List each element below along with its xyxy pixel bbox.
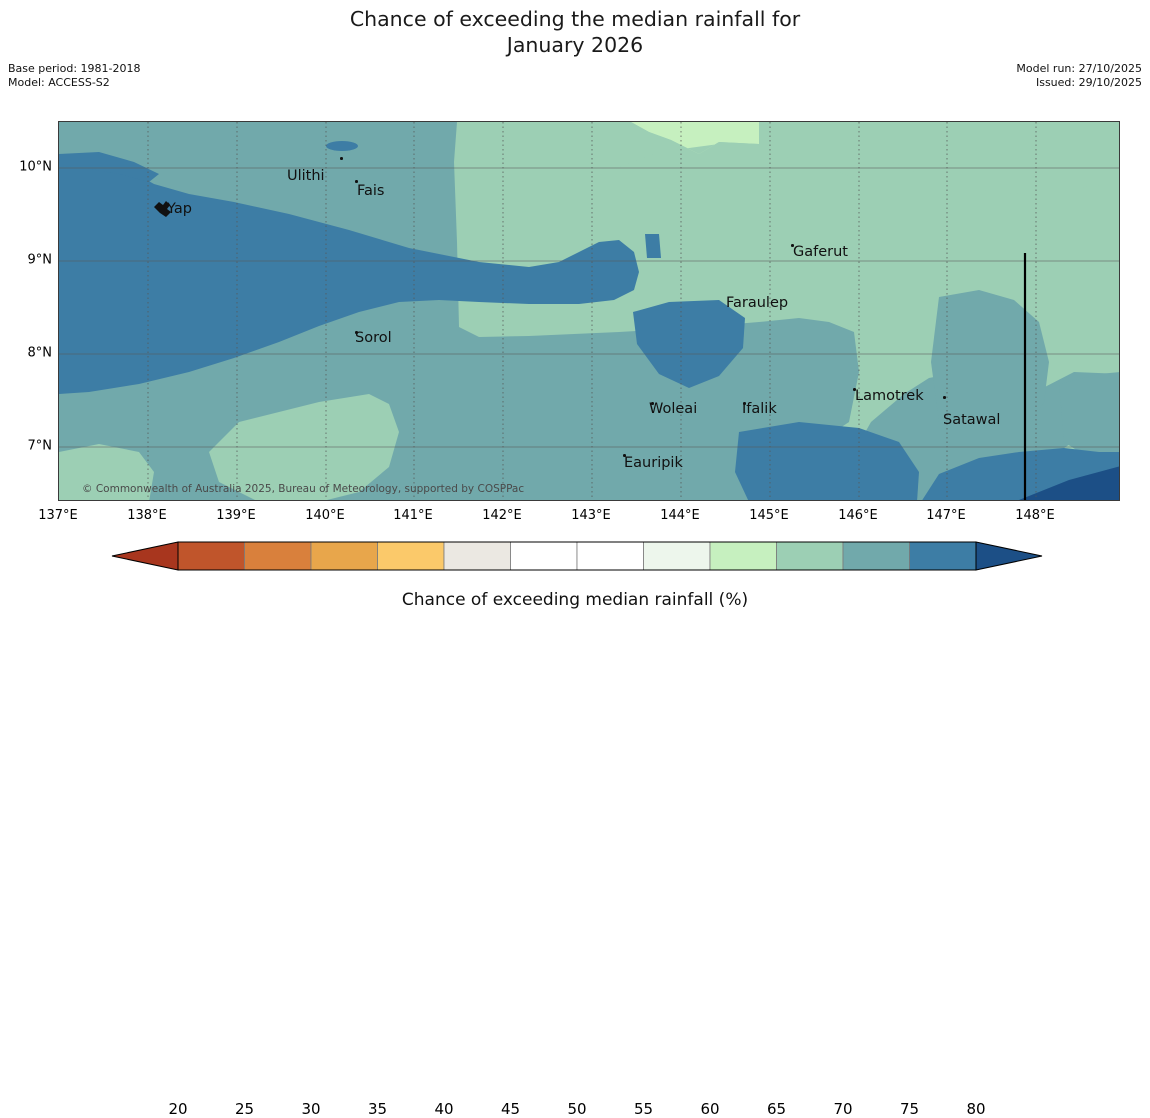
x-tick-140e: 140°E [305, 508, 345, 523]
x-tick-142e: 142°E [482, 508, 522, 523]
base-period-text: Base period: 1981-2018 [8, 62, 140, 76]
x-tick-139e: 139°E [216, 508, 256, 523]
colorbar-tick-50: 50 [567, 1100, 586, 1118]
place-dot-ulithi [340, 157, 343, 160]
rainfall-outlook-page: Chance of exceeding the median rainfall … [0, 0, 1150, 644]
issued-text: Issued: 29/10/2025 [1016, 76, 1142, 90]
x-tick-137e: 137°E [38, 508, 78, 523]
place-label-eauripik: Eauripik [624, 455, 683, 471]
place-label-gaferut: Gaferut [793, 244, 848, 260]
title-line-1: Chance of exceeding the median rainfall … [350, 7, 800, 31]
place-label-faraulep: Faraulep [726, 295, 788, 311]
x-tick-144e: 144°E [660, 508, 700, 523]
colorbar-bins [178, 542, 976, 570]
model-run-text: Model run: 27/10/2025 [1016, 62, 1142, 76]
title-line-2: January 2026 [507, 33, 643, 57]
y-tick-7n: 7°N [28, 439, 53, 454]
copyright-text: © Commonwealth of Australia 2025, Bureau… [82, 483, 524, 495]
metadata-right: Model run: 27/10/2025 Issued: 29/10/2025 [1016, 62, 1142, 89]
y-tick-8n: 8°N [28, 346, 53, 361]
x-tick-143e: 143°E [571, 508, 611, 523]
place-label-yap: Yap [167, 201, 192, 217]
place-label-satawal: Satawal [943, 412, 1000, 428]
colorbar-tick-65: 65 [767, 1100, 786, 1118]
colorbar-tick-80: 80 [966, 1100, 985, 1118]
place-dot-satawal [943, 396, 946, 399]
colorbar-tick-75: 75 [900, 1100, 919, 1118]
region-65-70-blob-north [326, 141, 358, 151]
colorbar[interactable]: 20 25 30 35 40 45 50 55 60 65 70 75 80 [0, 536, 1150, 576]
colorbar-tick-40: 40 [434, 1100, 453, 1118]
place-label-ifalik: Ifalik [742, 401, 777, 417]
x-tick-138e: 138°E [127, 508, 167, 523]
x-tick-145e: 145°E [749, 508, 789, 523]
region-65-70-blob-centre [645, 234, 661, 258]
colorbar-tick-25: 25 [235, 1100, 254, 1118]
colorbar-tick-30: 30 [301, 1100, 320, 1118]
model-text: Model: ACCESS-S2 [8, 76, 140, 90]
place-label-fais: Fais [357, 183, 384, 199]
colorbar-tick-60: 60 [700, 1100, 719, 1118]
place-label-sorol: Sorol [355, 330, 392, 346]
colorbar-tick-45: 45 [501, 1100, 520, 1118]
colorbar-tick-20: 20 [168, 1100, 187, 1118]
colorbar-tick-35: 35 [368, 1100, 387, 1118]
y-tick-10n: 10°N [19, 160, 52, 175]
place-label-lamotrek: Lamotrek [855, 388, 924, 404]
y-tick-9n: 9°N [28, 253, 53, 268]
x-tick-141e: 141°E [393, 508, 433, 523]
colorbar-tick-55: 55 [634, 1100, 653, 1118]
colorbar-extend-low [112, 542, 178, 570]
page-title: Chance of exceeding the median rainfall … [0, 6, 1150, 58]
x-tick-147e: 147°E [926, 508, 966, 523]
colorbar-axis-label: Chance of exceeding median rainfall (%) [0, 590, 1150, 610]
place-label-ulithi: Ulithi [287, 168, 325, 184]
place-label-woleai: Woleai [649, 401, 697, 417]
colorbar-swatches [0, 536, 1150, 576]
colorbar-tick-70: 70 [833, 1100, 852, 1118]
contour-map [59, 122, 1120, 501]
colorbar-extend-high [976, 542, 1042, 570]
map-panel[interactable]: Ulithi Fais Yap Sorol Gaferut Faraulep W… [58, 121, 1120, 501]
metadata-left: Base period: 1981-2018 Model: ACCESS-S2 [8, 62, 140, 89]
x-tick-148e: 148°E [1015, 508, 1055, 523]
x-tick-146e: 146°E [838, 508, 878, 523]
